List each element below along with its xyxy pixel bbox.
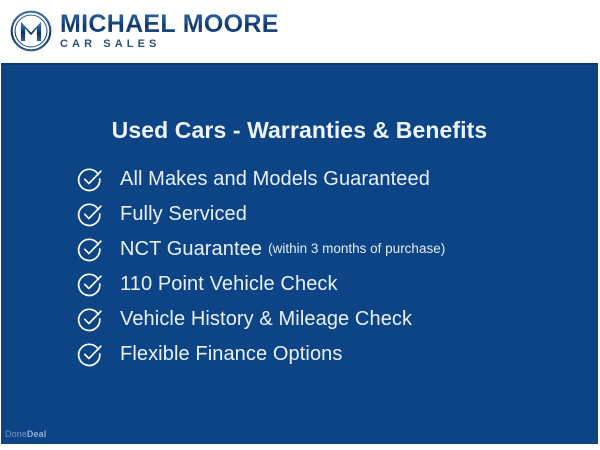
list-item: 110 Point Vehicle Check — [77, 266, 577, 301]
list-item: Fully Serviced — [77, 196, 577, 231]
benefits-panel: Used Cars - Warranties & Benefits All Ma… — [1, 63, 598, 444]
brand-name: MICHAEL MOORE — [60, 12, 279, 37]
watermark-suffix: Deal — [27, 429, 46, 439]
benefits-list: All Makes and Models Guaranteed Fully Se… — [77, 161, 577, 371]
watermark-prefix: Done — [5, 429, 27, 439]
brand-tagline: CAR SALES — [60, 38, 279, 51]
check-circle-icon — [77, 306, 103, 332]
michael-moore-logo-icon — [10, 10, 52, 52]
check-circle-icon — [77, 166, 103, 192]
list-item-label: 110 Point Vehicle Check — [120, 273, 338, 295]
check-circle-icon — [77, 201, 103, 227]
list-item-label: NCT Guarantee — [120, 238, 262, 260]
list-item-label: All Makes and Models Guaranteed — [120, 168, 430, 190]
list-item-label: Fully Serviced — [120, 203, 247, 225]
list-item: All Makes and Models Guaranteed — [77, 161, 577, 196]
slide-canvas: MICHAEL MOORE CAR SALES Used Cars - Warr… — [0, 0, 600, 450]
check-circle-icon — [77, 236, 103, 262]
list-item: NCT Guarantee (within 3 months of purcha… — [77, 231, 577, 266]
brand-wordmark: MICHAEL MOORE CAR SALES — [60, 11, 279, 51]
brand-header: MICHAEL MOORE CAR SALES — [0, 0, 600, 62]
list-item-label: Flexible Finance Options — [120, 343, 343, 365]
list-item-note: (within 3 months of purchase) — [268, 238, 445, 260]
check-circle-icon — [77, 341, 103, 367]
donedeal-watermark: DoneDeal — [5, 429, 46, 439]
page-title: Used Cars - Warranties & Benefits — [1, 117, 598, 143]
list-item: Vehicle History & Mileage Check — [77, 301, 577, 336]
check-circle-icon — [77, 271, 103, 297]
list-item-label: Vehicle History & Mileage Check — [120, 308, 412, 330]
list-item: Flexible Finance Options — [77, 336, 577, 371]
